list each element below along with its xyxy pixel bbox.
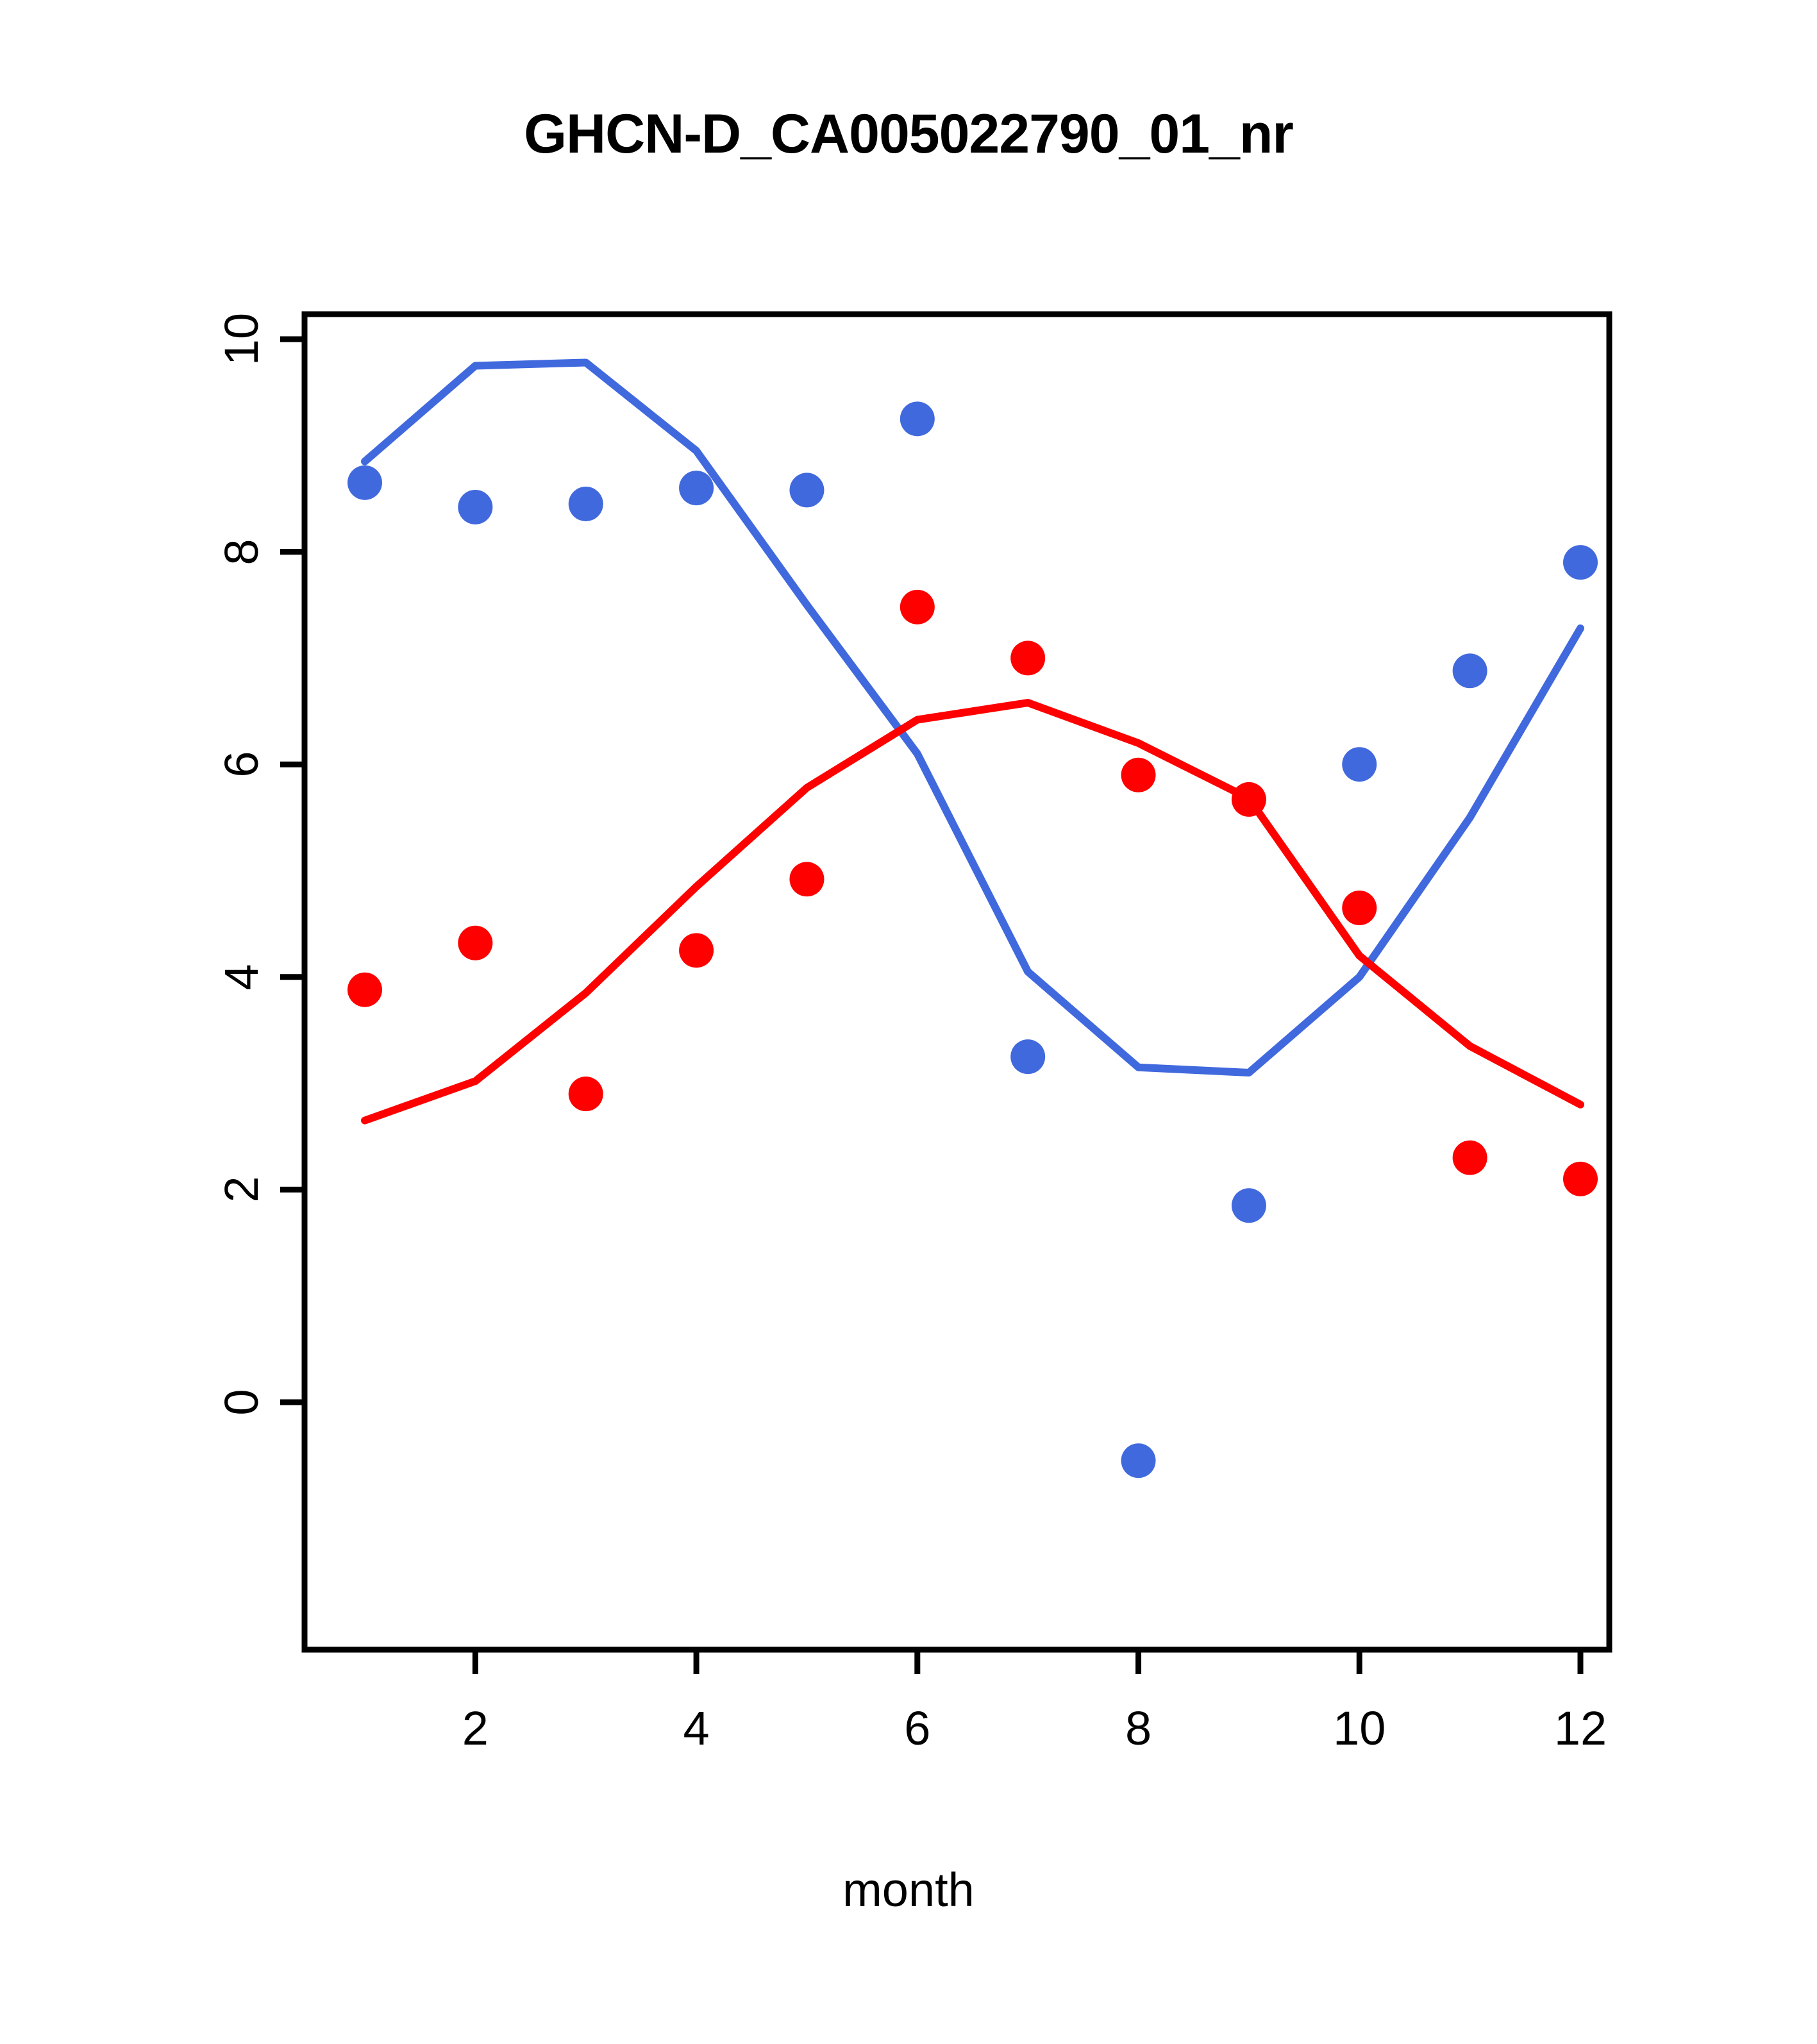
x-tick-label: 10: [1333, 1701, 1386, 1755]
series-point-blue-points: [679, 471, 714, 505]
series-point-red-points: [1453, 1141, 1487, 1175]
x-tick-label: 4: [683, 1701, 710, 1755]
series-point-blue-points: [789, 473, 824, 507]
series-line-red-line: [365, 703, 1580, 1121]
y-tick-label: 4: [213, 948, 271, 1006]
series-point-blue-points: [347, 465, 382, 500]
y-tick-label: 2: [213, 1160, 271, 1218]
x-tick-label: 12: [1554, 1701, 1607, 1755]
series-group: [347, 362, 1598, 1478]
x-axis-label: month: [0, 1863, 1817, 1917]
series-point-red-points: [789, 862, 824, 896]
series-line-blue-line: [365, 362, 1580, 1073]
series-point-red-points: [569, 1076, 603, 1111]
series-point-red-points: [1563, 1162, 1598, 1196]
series-point-red-points: [458, 926, 492, 960]
series-point-red-points: [900, 590, 935, 624]
series-point-blue-points: [1121, 1443, 1156, 1478]
x-tick-label: 8: [1125, 1701, 1151, 1755]
series-point-blue-points: [458, 490, 492, 524]
series-point-red-points: [1121, 758, 1156, 792]
series-point-blue-points: [1232, 1188, 1266, 1223]
series-point-blue-points: [1342, 747, 1377, 782]
series-point-red-points: [1342, 891, 1377, 925]
series-point-red-points: [347, 973, 382, 1007]
series-point-red-points: [1232, 782, 1266, 817]
series-point-blue-points: [900, 401, 935, 436]
chart-plot-root: GHCN-D_CA005022790_01_nr 24681012 024681…: [0, 0, 1817, 2044]
series-point-blue-points: [1563, 545, 1598, 580]
series-point-blue-points: [1010, 1039, 1045, 1074]
y-tick-label: 6: [213, 735, 271, 793]
series-point-red-points: [679, 933, 714, 968]
series-point-blue-points: [569, 487, 603, 521]
y-tick-label: 0: [213, 1373, 271, 1431]
x-tick-label: 6: [904, 1701, 930, 1755]
series-point-blue-points: [1453, 653, 1487, 688]
x-tick-label: 2: [462, 1701, 489, 1755]
y-tick-label: 10: [213, 310, 271, 368]
y-tick-label: 8: [213, 523, 271, 581]
series-point-red-points: [1010, 641, 1045, 675]
plot-box-border: [305, 314, 1609, 1650]
